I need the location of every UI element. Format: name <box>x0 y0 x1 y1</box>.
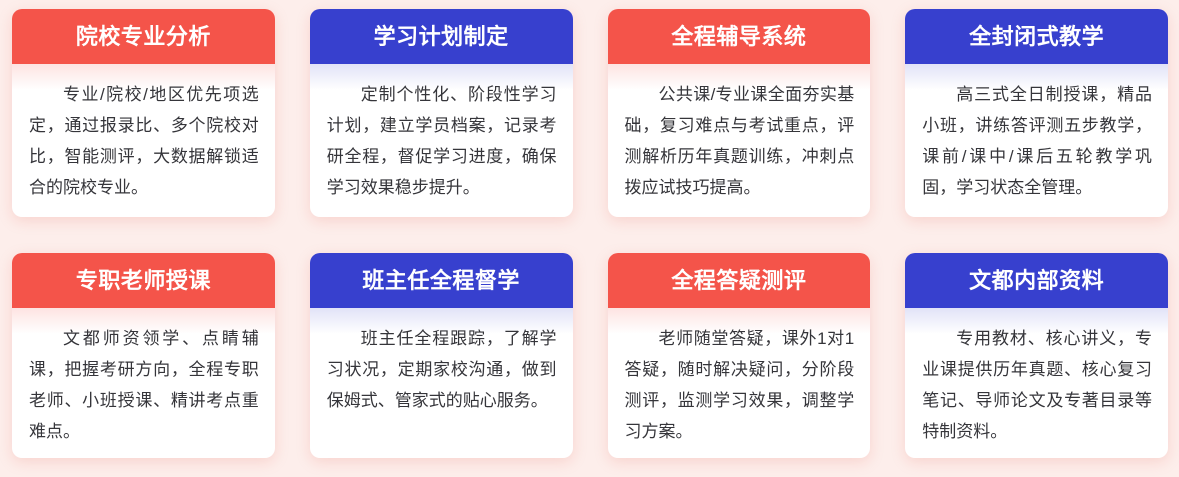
feature-card-1-body: 专业/院校/地区优先项选定，通过报录比、多个院校对比，智能测评，大数据解锁适合的… <box>12 64 275 217</box>
feature-card-6-body: 班主任全程跟踪，了解学习状况，定期家校沟通，做到保姆式、管家式的贴心服务。 <box>310 308 573 458</box>
feature-card-1-title: 院校专业分析 <box>76 26 211 48</box>
feature-card-2-header: 学习计划制定 <box>310 9 573 64</box>
feature-card-3-title: 全程辅导系统 <box>671 26 806 48</box>
feature-card-7-description: 老师随堂答疑，课外1对1答疑，随时解决疑问，分阶段测评，监测学习效果，调整学习方… <box>625 323 855 447</box>
feature-card-5-title: 专职老师授课 <box>76 270 211 292</box>
feature-card-1[interactable]: 院校专业分析 专业/院校/地区优先项选定，通过报录比、多个院校对比，智能测评，大… <box>12 9 275 217</box>
feature-card-2[interactable]: 学习计划制定 定制个性化、阶段性学习计划，建立学员档案，记录考研全程，督促学习进… <box>310 9 573 217</box>
feature-card-7-title: 全程答疑测评 <box>671 270 806 292</box>
feature-card-3-body: 公共课/专业课全面夯实基础，复习难点与考试重点，评测解析历年真题训练，冲刺点拨应… <box>608 64 871 217</box>
feature-card-5-description: 文都师资领学、点睛辅课，把握考研方向，全程专职老师、小班授课、精讲考点重难点。 <box>29 323 259 447</box>
feature-card-7[interactable]: 全程答疑测评 老师随堂答疑，课外1对1答疑，随时解决疑问，分阶段测评，监测学习效… <box>608 253 871 458</box>
feature-card-2-description: 定制个性化、阶段性学习计划，建立学员档案，记录考研全程，督促学习进度，确保学习效… <box>327 79 557 203</box>
feature-card-2-body: 定制个性化、阶段性学习计划，建立学员档案，记录考研全程，督促学习进度，确保学习效… <box>310 64 573 217</box>
feature-card-7-body: 老师随堂答疑，课外1对1答疑，随时解决疑问，分阶段测评，监测学习效果，调整学习方… <box>608 308 871 458</box>
feature-card-5-header: 专职老师授课 <box>12 253 275 308</box>
feature-card-2-title: 学习计划制定 <box>374 26 509 48</box>
feature-card-4-title: 全封闭式教学 <box>969 26 1104 48</box>
feature-card-3-header: 全程辅导系统 <box>608 9 871 64</box>
feature-card-8-description: 专用教材、核心讲义，专业课提供历年真题、核心复习笔记、导师论文及专著目录等特制资… <box>922 323 1152 447</box>
feature-card-8[interactable]: 文都内部资料 专用教材、核心讲义，专业课提供历年真题、核心复习笔记、导师论文及专… <box>905 253 1168 458</box>
feature-card-grid: 院校专业分析 专业/院校/地区优先项选定，通过报录比、多个院校对比，智能测评，大… <box>0 0 1179 477</box>
feature-card-8-title: 文都内部资料 <box>969 270 1104 292</box>
feature-card-6-description: 班主任全程跟踪，了解学习状况，定期家校沟通，做到保姆式、管家式的贴心服务。 <box>327 323 557 416</box>
feature-card-3[interactable]: 全程辅导系统 公共课/专业课全面夯实基础，复习难点与考试重点，评测解析历年真题训… <box>608 9 871 217</box>
feature-card-5[interactable]: 专职老师授课 文都师资领学、点睛辅课，把握考研方向，全程专职老师、小班授课、精讲… <box>12 253 275 458</box>
feature-card-7-header: 全程答疑测评 <box>608 253 871 308</box>
feature-card-1-description: 专业/院校/地区优先项选定，通过报录比、多个院校对比，智能测评，大数据解锁适合的… <box>29 79 259 203</box>
feature-card-6-header: 班主任全程督学 <box>310 253 573 308</box>
feature-card-3-description: 公共课/专业课全面夯实基础，复习难点与考试重点，评测解析历年真题训练，冲刺点拨应… <box>625 79 855 203</box>
feature-card-1-header: 院校专业分析 <box>12 9 275 64</box>
feature-card-5-body: 文都师资领学、点睛辅课，把握考研方向，全程专职老师、小班授课、精讲考点重难点。 <box>12 308 275 458</box>
feature-card-8-body: 专用教材、核心讲义，专业课提供历年真题、核心复习笔记、导师论文及专著目录等特制资… <box>905 308 1168 458</box>
feature-card-6[interactable]: 班主任全程督学 班主任全程跟踪，了解学习状况，定期家校沟通，做到保姆式、管家式的… <box>310 253 573 458</box>
feature-card-6-title: 班主任全程督学 <box>362 270 520 292</box>
feature-card-4-body: 高三式全日制授课，精品小班，讲练答评测五步教学，课前/课中/课后五轮教学巩固，学… <box>905 64 1168 217</box>
feature-card-8-header: 文都内部资料 <box>905 253 1168 308</box>
feature-card-4-header: 全封闭式教学 <box>905 9 1168 64</box>
feature-card-4-description: 高三式全日制授课，精品小班，讲练答评测五步教学，课前/课中/课后五轮教学巩固，学… <box>922 79 1152 203</box>
feature-card-4[interactable]: 全封闭式教学 高三式全日制授课，精品小班，讲练答评测五步教学，课前/课中/课后五… <box>905 9 1168 217</box>
